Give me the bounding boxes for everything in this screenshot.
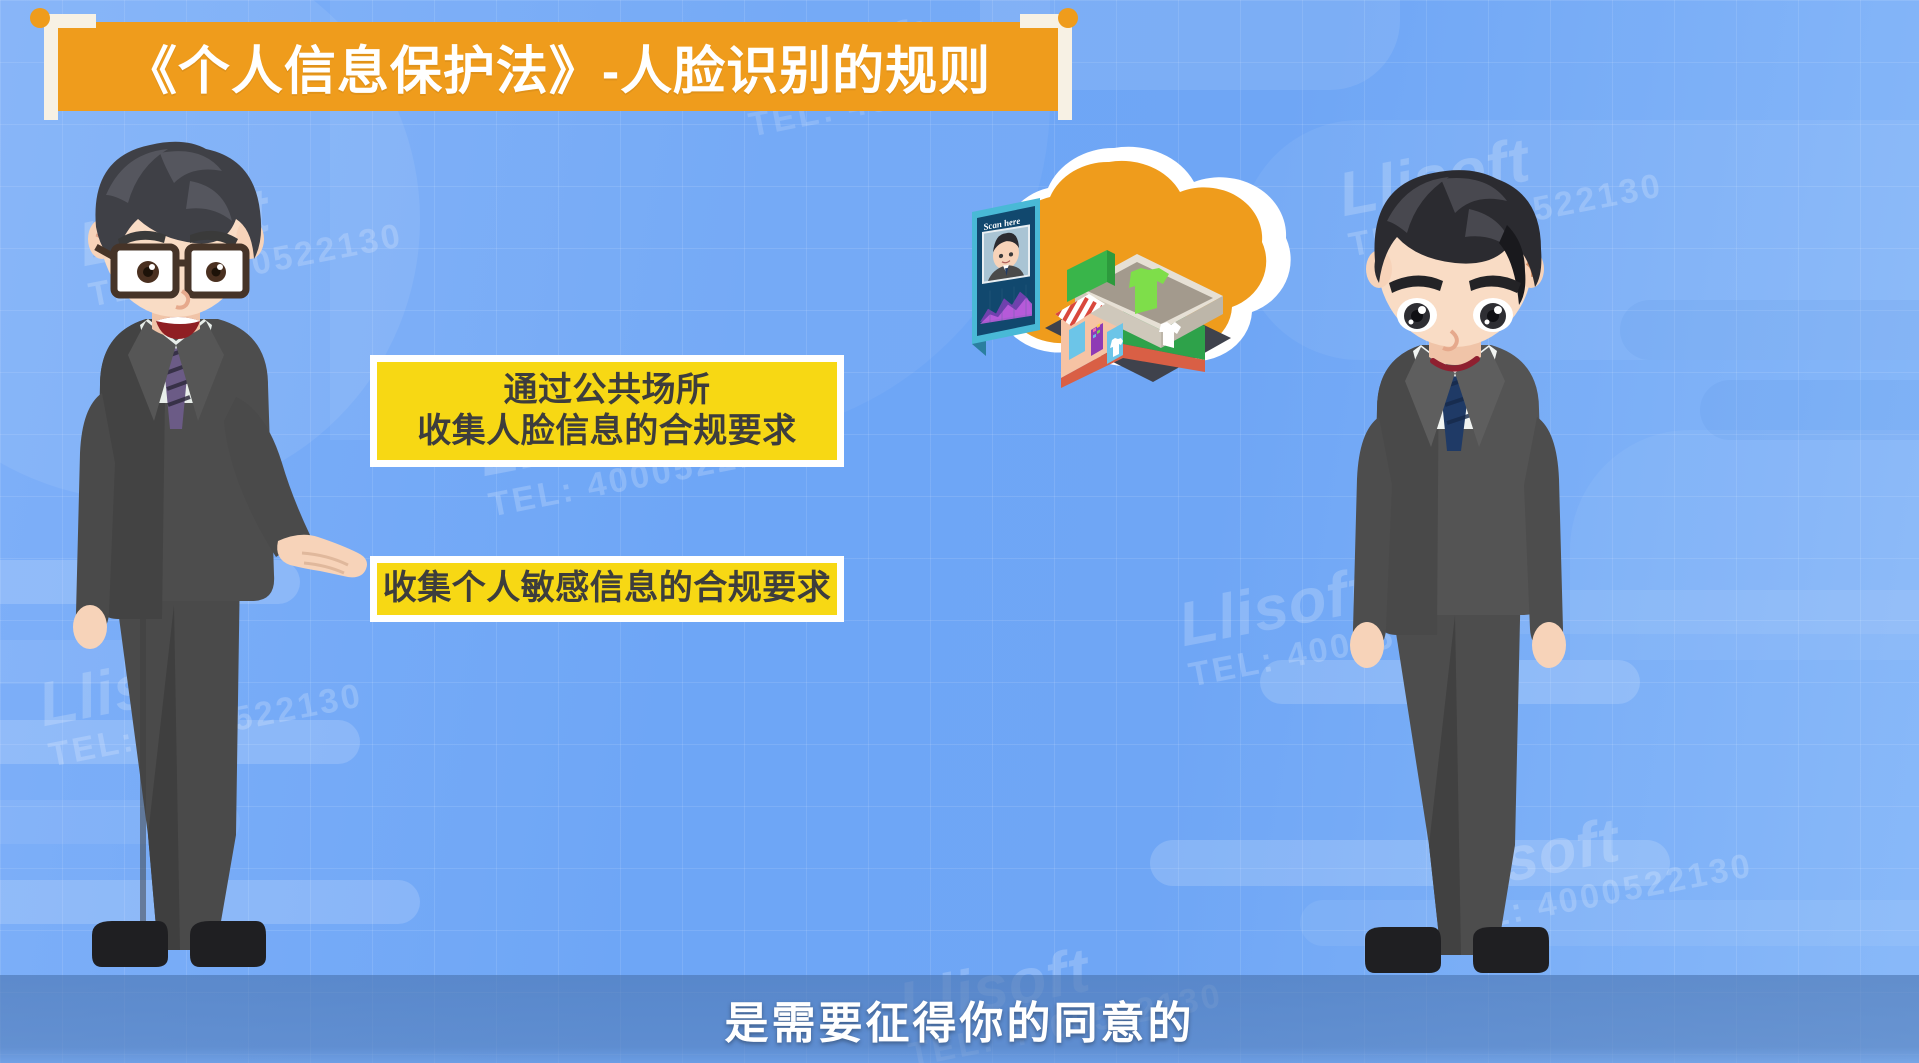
callout-box-1: 通过公共场所 收集人脸信息的合规要求 — [370, 355, 844, 467]
callout-box-2: 收集个人敏感信息的合规要求 — [370, 556, 844, 622]
cloud-illustration: Scan here — [890, 140, 1320, 425]
character-left — [40, 135, 370, 995]
video-frame-stage: Llisoft TEL: 4000522130 Llisoft TEL: 400… — [0, 0, 1919, 1063]
character-right — [1325, 165, 1625, 995]
callout-2-text: 收集个人敏感信息的合规要求 — [383, 568, 832, 609]
page-title: 《个人信息保护法》-人脸识别的规则 — [125, 29, 991, 104]
subtitle-text: 是需要征得你的同意的 — [725, 987, 1195, 1051]
banner-bracket-top-left — [44, 14, 96, 28]
open-hand — [277, 535, 367, 578]
banner-dot-right — [1058, 8, 1078, 28]
background-bar-11 — [1700, 380, 1919, 440]
title-banner: 《个人信息保护法》-人脸识别的规则 — [58, 22, 1058, 111]
background-bar-10 — [1620, 300, 1919, 360]
banner-bracket-right — [1058, 28, 1072, 120]
callout-1-text: 通过公共场所 收集人脸信息的合规要求 — [417, 370, 797, 453]
subtitle-bar: 是需要征得你的同意的 — [0, 975, 1919, 1063]
banner-bracket-left — [44, 28, 58, 120]
banner-dot-left — [30, 8, 50, 28]
